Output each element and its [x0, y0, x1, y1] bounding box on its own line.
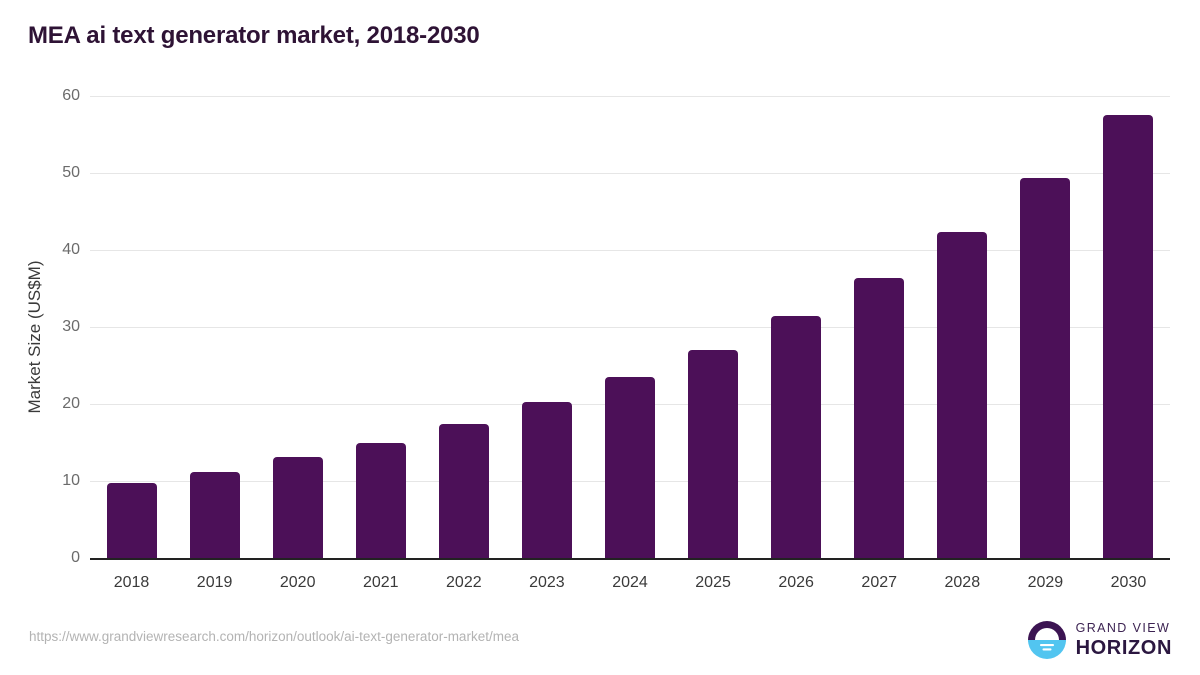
x-axis-tick-label: 2030	[1087, 574, 1170, 592]
x-axis-line	[90, 558, 1170, 560]
bar[interactable]	[1103, 115, 1153, 558]
logo-line-horizon: HORIZON	[1076, 638, 1172, 658]
grand-view-horizon-logo[interactable]: GRAND VIEW HORIZON	[1027, 620, 1172, 660]
bar[interactable]	[1020, 178, 1070, 558]
bar-group: 2029	[1004, 96, 1087, 558]
bar[interactable]	[190, 472, 240, 558]
x-axis-tick-label: 2027	[838, 574, 921, 592]
x-axis-tick-label: 2020	[256, 574, 339, 592]
bar-group: 2018	[90, 96, 173, 558]
bar-group: 2021	[339, 96, 422, 558]
logo-line-grand-view: GRAND VIEW	[1076, 622, 1172, 635]
bar-group: 2025	[672, 96, 755, 558]
bar-group: 2030	[1087, 96, 1170, 558]
logo-wordmark: GRAND VIEW HORIZON	[1076, 622, 1172, 659]
y-axis-tick-label: 60	[20, 87, 80, 105]
y-axis-tick-label: 10	[20, 472, 80, 490]
y-axis-tick-label: 30	[20, 318, 80, 336]
x-axis-tick-label: 2023	[505, 574, 588, 592]
bar-series: 2018201920202021202220232024202520262027…	[90, 96, 1170, 558]
x-axis-tick-label: 2025	[672, 574, 755, 592]
bar[interactable]	[356, 443, 406, 559]
bar[interactable]	[107, 483, 157, 558]
y-axis-tick-label: 20	[20, 395, 80, 413]
y-axis-tick-label: 50	[20, 164, 80, 182]
y-axis-tick-label: 0	[20, 549, 80, 567]
bar-group: 2022	[422, 96, 505, 558]
bar-group: 2023	[505, 96, 588, 558]
bar-group: 2019	[173, 96, 256, 558]
x-axis-tick-label: 2018	[90, 574, 173, 592]
x-axis-tick-label: 2024	[588, 574, 671, 592]
bar-group: 2027	[838, 96, 921, 558]
bar[interactable]	[522, 402, 572, 558]
chart-card: MEA ai text generator market, 2018-2030 …	[0, 0, 1200, 675]
x-axis-tick-label: 2029	[1004, 574, 1087, 592]
source-url[interactable]: https://www.grandviewresearch.com/horizo…	[29, 629, 519, 644]
bar[interactable]	[937, 232, 987, 558]
bar[interactable]	[439, 424, 489, 558]
bar[interactable]	[605, 377, 655, 558]
bar[interactable]	[273, 457, 323, 558]
bar[interactable]	[854, 278, 904, 558]
x-axis-tick-label: 2026	[755, 574, 838, 592]
horizon-circle-icon	[1027, 620, 1067, 660]
x-axis-tick-label: 2021	[339, 574, 422, 592]
bar[interactable]	[771, 316, 821, 558]
bar-group: 2026	[755, 96, 838, 558]
bar-group: 2020	[256, 96, 339, 558]
bar-group: 2024	[588, 96, 671, 558]
bar[interactable]	[688, 350, 738, 558]
chart-plot-area: Market Size (US$M) 0102030405060 2018201…	[0, 0, 1200, 675]
x-axis-tick-label: 2022	[422, 574, 505, 592]
bar-group: 2028	[921, 96, 1004, 558]
plot-region: 0102030405060 20182019202020212022202320…	[90, 96, 1170, 558]
y-axis-tick-label: 40	[20, 241, 80, 259]
x-axis-tick-label: 2019	[173, 574, 256, 592]
x-axis-tick-label: 2028	[921, 574, 1004, 592]
